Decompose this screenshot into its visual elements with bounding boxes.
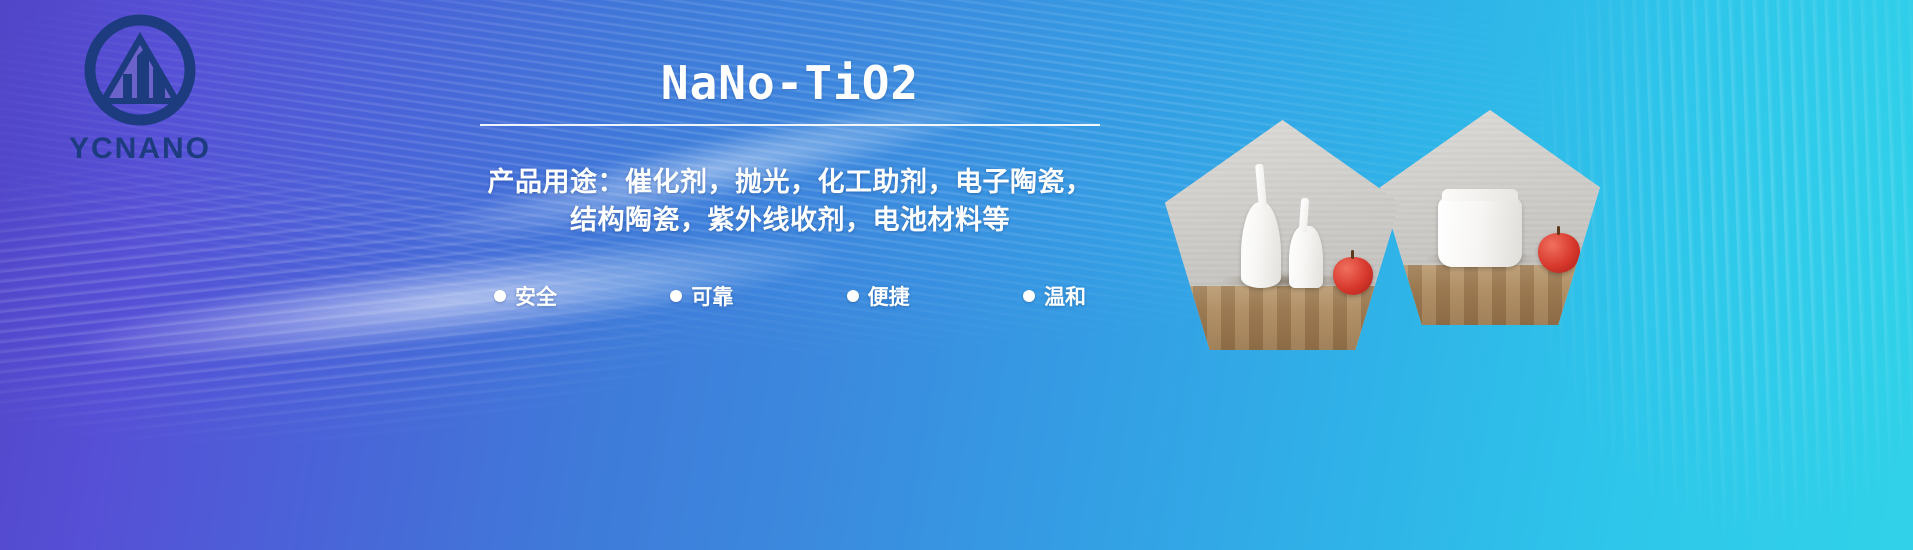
mountain-in-circle-emblem-icon (79, 12, 201, 130)
red-apple-icon (1333, 257, 1373, 295)
feature-label: 温和 (1044, 281, 1086, 311)
product-photo-vases (1165, 120, 1400, 350)
photo-wood-floor (1165, 286, 1400, 350)
banner-content: NaNo-TiO2 产品用途：催化剂，抛光，化工助剂，电子陶瓷， 结构陶瓷，紫外… (480, 60, 1100, 311)
list-item: 温和 (1023, 281, 1086, 311)
apple-stem-icon (1557, 226, 1560, 235)
photo-wood-floor (1380, 265, 1600, 325)
jar-lid-icon (1442, 189, 1518, 201)
usage-line-1: 产品用途：催化剂，抛光，化工助剂，电子陶瓷， (480, 164, 1100, 202)
usage-line-2: 结构陶瓷，紫外线收剂，电池材料等 (480, 202, 1100, 240)
bullet-dot-icon (670, 290, 682, 302)
company-logo: YCNANO (40, 12, 240, 162)
feature-list: 安全 可靠 便捷 温和 (480, 281, 1100, 311)
bullet-dot-icon (494, 290, 506, 302)
product-banner: YCNANO NaNo-TiO2 产品用途：催化剂，抛光，化工助剂，电子陶瓷， … (0, 0, 1913, 550)
bullet-dot-icon (847, 290, 859, 302)
list-item: 便捷 (847, 281, 910, 311)
logo-wordmark: YCNANO (40, 132, 240, 166)
white-jar-icon (1438, 197, 1522, 267)
feature-label: 便捷 (868, 281, 910, 311)
list-item: 安全 (494, 281, 557, 311)
title-divider (480, 124, 1100, 126)
feature-label: 安全 (515, 281, 557, 311)
apple-stem-icon (1351, 250, 1354, 259)
small-white-vase-icon (1289, 226, 1323, 288)
feature-label: 可靠 (691, 281, 733, 311)
list-item: 可靠 (670, 281, 733, 311)
product-photo-jar (1380, 110, 1600, 325)
bullet-dot-icon (1023, 290, 1035, 302)
page-title: NaNo-TiO2 (480, 60, 1100, 106)
